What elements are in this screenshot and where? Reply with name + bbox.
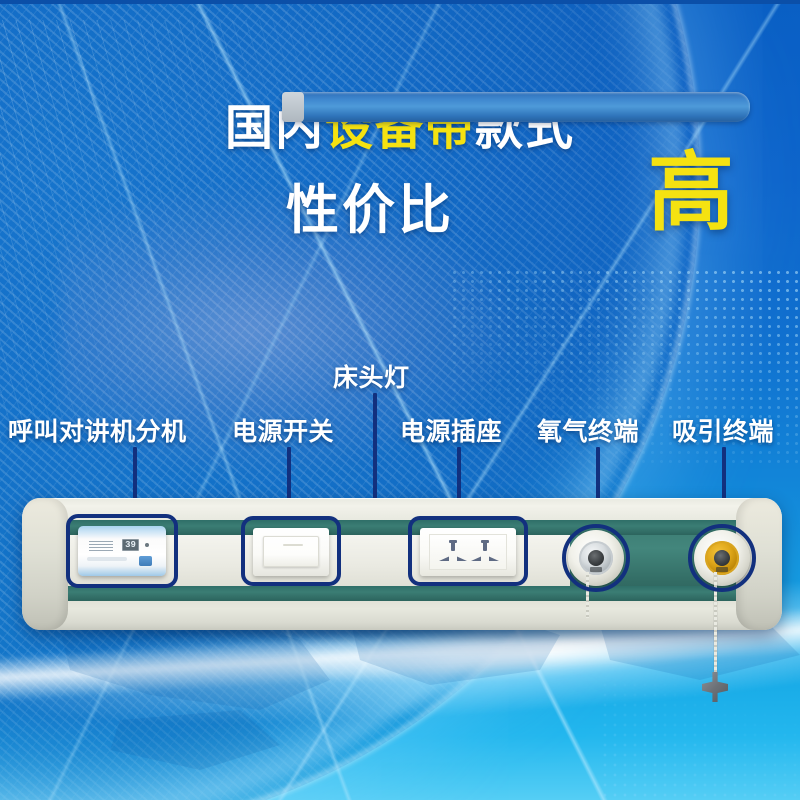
callout-label-power-socket: 电源插座: [400, 412, 502, 448]
highlight-box-intercom: [66, 514, 178, 588]
callout-label-intercom: 呼叫对讲机分机: [8, 412, 187, 448]
callout-label-oxygen: 氧气终端: [537, 412, 639, 448]
panel-end-cap-left: [22, 498, 68, 630]
callout-label-bed-lamp: 床头灯: [333, 358, 410, 394]
callout-label-power-switch: 电源开关: [232, 412, 334, 448]
equipment-rail: [282, 92, 750, 122]
highlight-circle-oxygen: [562, 524, 630, 592]
highlight-box-power-switch: [241, 516, 341, 586]
highlight-box-power-socket: [408, 516, 528, 586]
callout-label-suction: 吸引终端: [672, 412, 774, 448]
equipment-rail-end-cap: [282, 92, 304, 122]
highlight-circle-suction: [688, 524, 756, 592]
panel-stripe-bottom: [60, 586, 744, 601]
